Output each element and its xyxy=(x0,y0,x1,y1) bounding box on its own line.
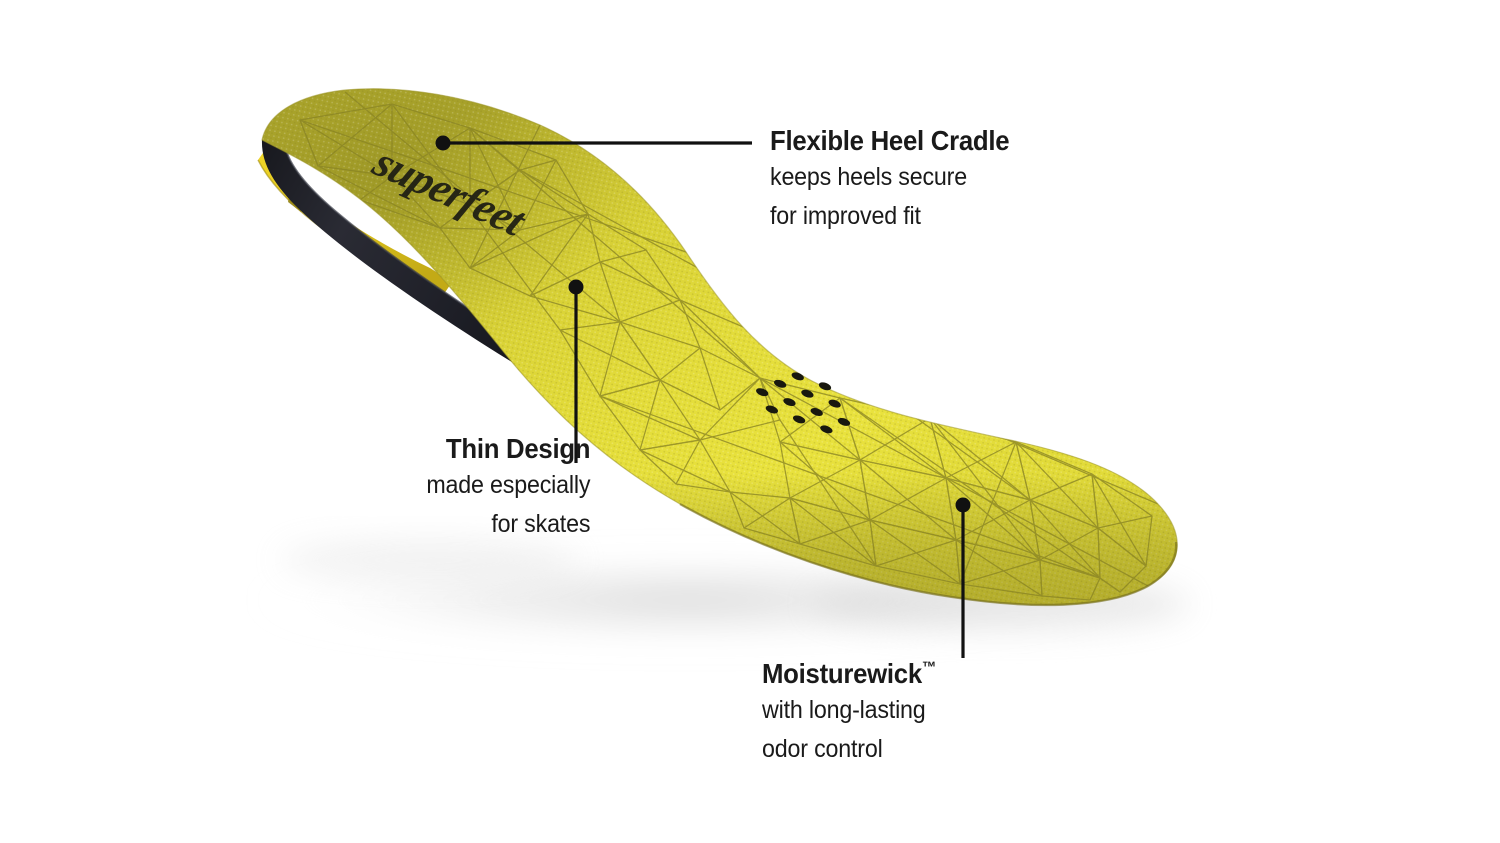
callout-sub-line1-thin-design: made especially xyxy=(426,469,590,502)
leader-dot-thin-design xyxy=(569,280,584,295)
callout-sub-line2-moisturewick: odor control xyxy=(762,733,938,766)
diagram-canvas: superfeet xyxy=(0,0,1500,843)
trademark-symbol: ™ xyxy=(922,660,936,677)
callout-title-moisturewick-text: Moisturewick xyxy=(762,658,922,689)
callout-title-thin-design: Thin Design xyxy=(428,434,590,463)
callout-flexible-heel-cradle: Flexible Heel Cradle keeps heels secure … xyxy=(770,126,1030,232)
callout-moisturewick: Moisturewick™ with long-lasting odor con… xyxy=(762,659,951,765)
callout-thin-design: Thin Design made especially for skates xyxy=(414,434,590,540)
callout-sub-line2-flexible-heel-cradle: for improved fit xyxy=(770,200,1012,233)
callout-sub-line1-moisturewick: with long-lasting xyxy=(762,694,938,727)
callout-title-flexible-heel-cradle: Flexible Heel Cradle xyxy=(770,126,1009,155)
leader-dot-moisturewick xyxy=(956,498,971,513)
insole-illustration: superfeet xyxy=(0,0,1500,843)
callout-sub-line1-flexible-heel-cradle: keeps heels secure xyxy=(770,161,1012,194)
callout-sub-line2-thin-design: for skates xyxy=(426,508,590,541)
callout-title-moisturewick: Moisturewick™ xyxy=(762,659,936,688)
leader-dot-flexible-heel-cradle xyxy=(436,136,451,151)
